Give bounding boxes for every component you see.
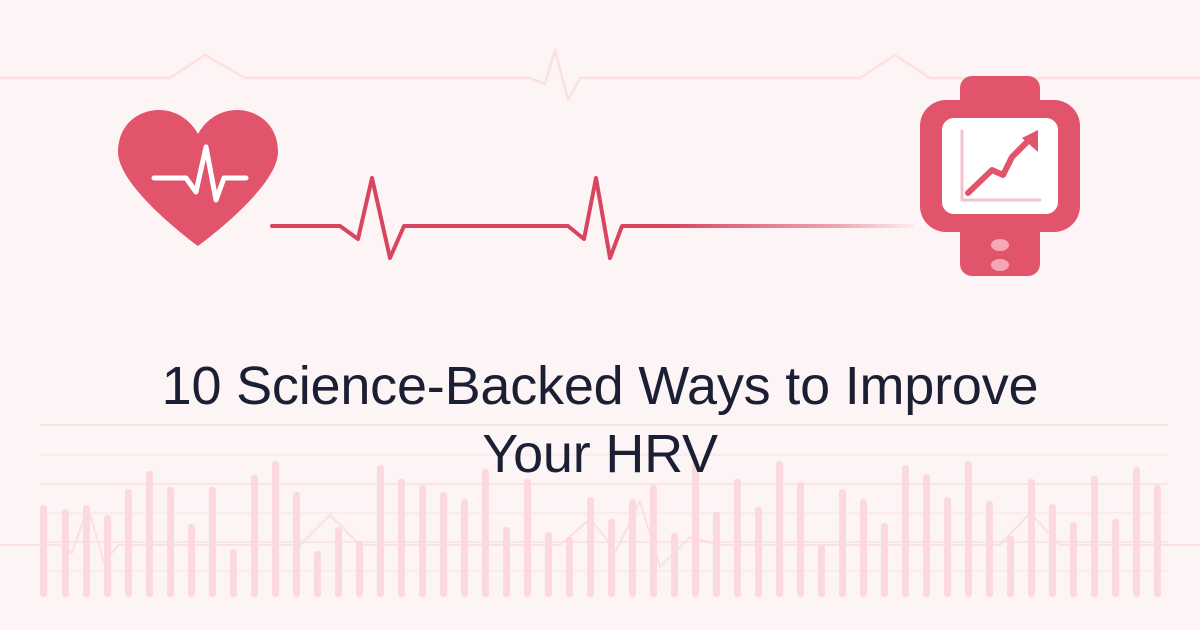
watch-button-bottom[interactable]: [991, 259, 1009, 271]
smartwatch-icon: [920, 76, 1080, 276]
page-title-line-1: 10 Science-Backed Ways to Improve: [0, 352, 1200, 420]
hrv-article-banner: 10 Science-Backed Ways to Improve Your H…: [0, 0, 1200, 630]
page-title-line-2: Your HRV: [0, 420, 1200, 488]
smartwatch-icon-wrapper: [0, 0, 1200, 630]
page-title: 10 Science-Backed Ways to Improve Your H…: [0, 352, 1200, 488]
watch-button-top[interactable]: [991, 239, 1009, 251]
